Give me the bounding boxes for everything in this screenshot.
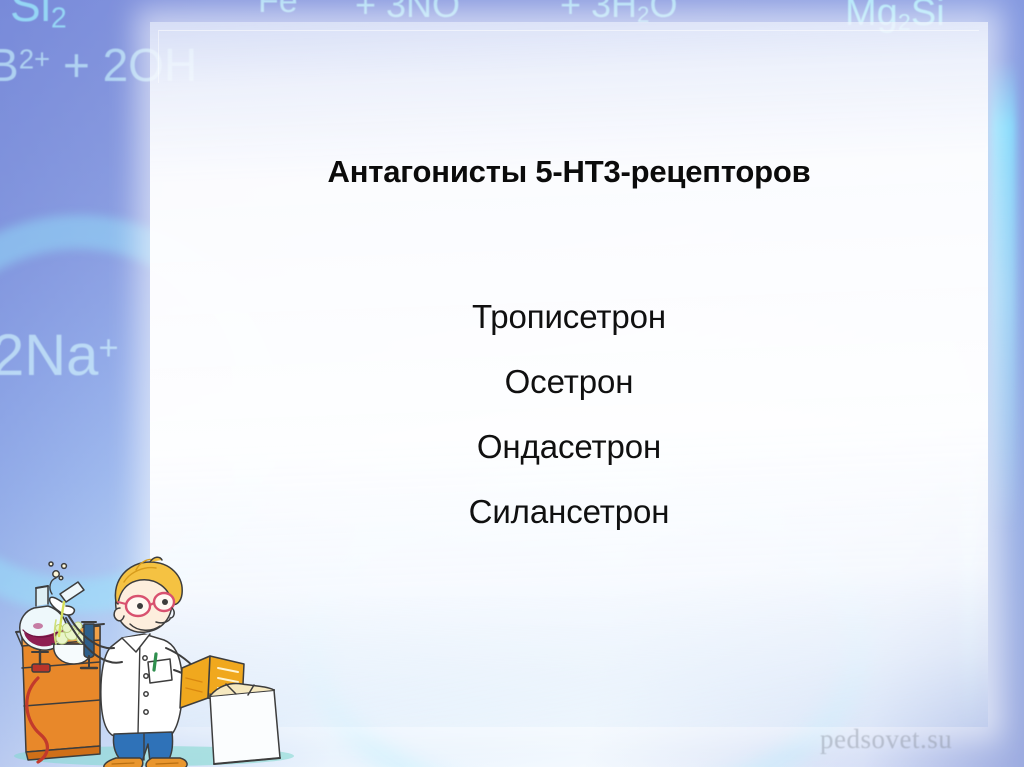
background-formula-fe: Fe xyxy=(258,0,298,21)
background-cyan-streak xyxy=(990,60,1016,530)
background-formula-si: Si2 xyxy=(10,0,67,35)
drug-list: Трописетрон Осетрон Ондасетрон Силансетр… xyxy=(150,284,988,544)
list-item: Ондасетрон xyxy=(150,414,988,479)
list-item: Трописетрон xyxy=(150,284,988,349)
page-title: Антагонисты 5-HT3-рецепторов xyxy=(150,154,988,190)
slide-canvas: Si2 Fe + 3NO + 3H2O Mg2Si B2+ + 2OH 2Na+… xyxy=(0,0,1024,767)
list-item: Осетрон xyxy=(150,349,988,414)
chemist-illustration xyxy=(4,528,304,767)
watermark: pedsovet.su xyxy=(820,724,952,755)
background-formula-na: 2Na+ xyxy=(0,322,119,389)
